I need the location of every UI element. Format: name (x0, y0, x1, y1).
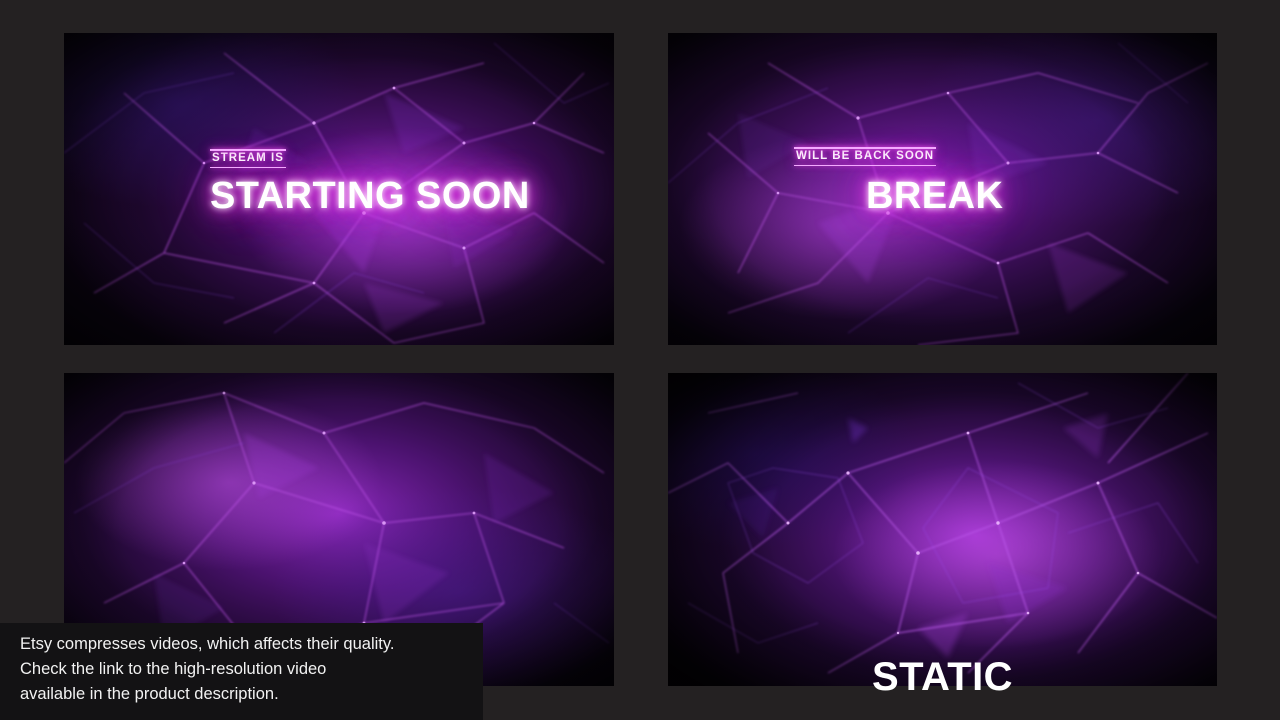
caption-line-2: Check the link to the high-resolution vi… (20, 657, 469, 682)
plexus-background (668, 373, 1217, 686)
panel-headline: BREAK (794, 177, 1003, 216)
video-thumbnail-break[interactable]: WILL BE BACK SOON BREAK (668, 33, 1217, 345)
panel-text-block: WILL BE BACK SOON BREAK (794, 146, 1003, 216)
panel-text-block: STREAM IS STARTING SOON (210, 148, 530, 216)
video-thumbnail-offline[interactable]: OFFLINE (668, 373, 1217, 686)
screenshot-stage: STREAM IS STARTING SOON (0, 0, 1280, 720)
caption-line-3: available in the product description. (20, 682, 469, 707)
panel-kicker-label: WILL BE BACK SOON (794, 147, 936, 166)
panel-kicker-label: STREAM IS (210, 149, 286, 168)
static-label: STATIC (668, 655, 1217, 700)
caption-overlay: Etsy compresses videos, which affects th… (0, 623, 483, 720)
panel-headline: STARTING SOON (210, 177, 530, 216)
video-thumbnail-starting-soon[interactable]: STREAM IS STARTING SOON (64, 33, 614, 345)
caption-line-1: Etsy compresses videos, which affects th… (20, 632, 469, 657)
